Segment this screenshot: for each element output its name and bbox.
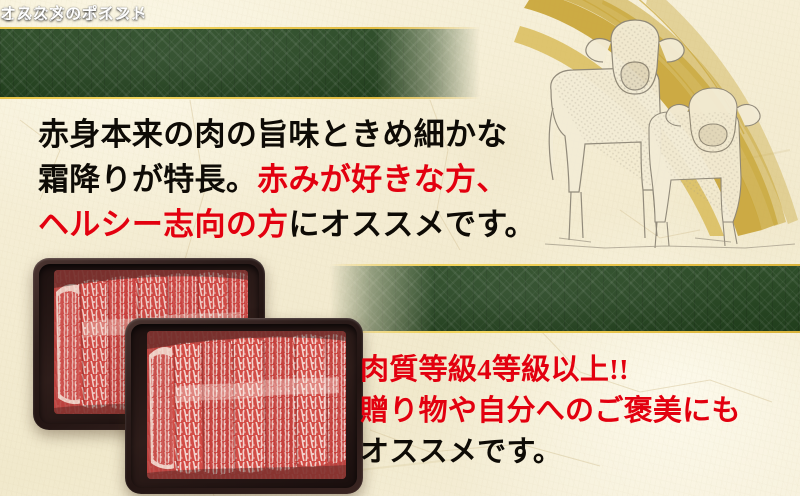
intro-copy: 赤身本来の肉の旨味ときめ細かな 霜降りが特長。赤みが好きな方、 ヘルシー志向の方… [38,112,536,247]
banner-gold-rule-top [0,27,480,29]
intro-copy-line2-black: 霜降りが特長。 [38,162,257,197]
banner-sheen [0,27,480,99]
banner-gold-rule-top [330,264,800,266]
points-copy-line2: 贈り物や自分へのご褒美にも [360,391,741,432]
points-copy-line1: 肉質等級4等級以上!! [360,350,741,391]
banner2-title: オススメのポイント [0,0,147,24]
points-copy: 肉質等級4等級以上!! 贈り物や自分へのご褒美にも オススメです。 [360,350,741,473]
banner-recommended-points [330,264,800,333]
banner-gold-rule-bottom [0,97,480,99]
product-photo-tray-2 [125,318,363,494]
intro-copy-line3: ヘルシー志向の方にオススメです。 [38,202,536,247]
points-copy-line3: オススメです。 [360,432,741,473]
banner-recommended-for [0,27,480,99]
intro-copy-line3-black: にオススメです。 [288,207,535,242]
intro-copy-line2: 霜降りが特長。赤みが好きな方、 [38,157,536,202]
cow-illustration-icon [545,12,800,257]
sliced-beef-image [147,331,346,479]
intro-copy-line2-red: 赤みが好きな方、 [257,162,507,197]
intro-copy-line1: 赤身本来の肉の旨味ときめ細かな [38,112,536,157]
promo-banner: こんな方へオススメ 赤身本来の肉の旨味ときめ細かな 霜降りが特長。赤みが好きな方… [0,0,800,496]
intro-copy-line3-red: ヘルシー志向の方 [38,207,288,242]
banner-sheen [330,264,800,333]
banner-gold-rule-bottom [330,331,800,333]
